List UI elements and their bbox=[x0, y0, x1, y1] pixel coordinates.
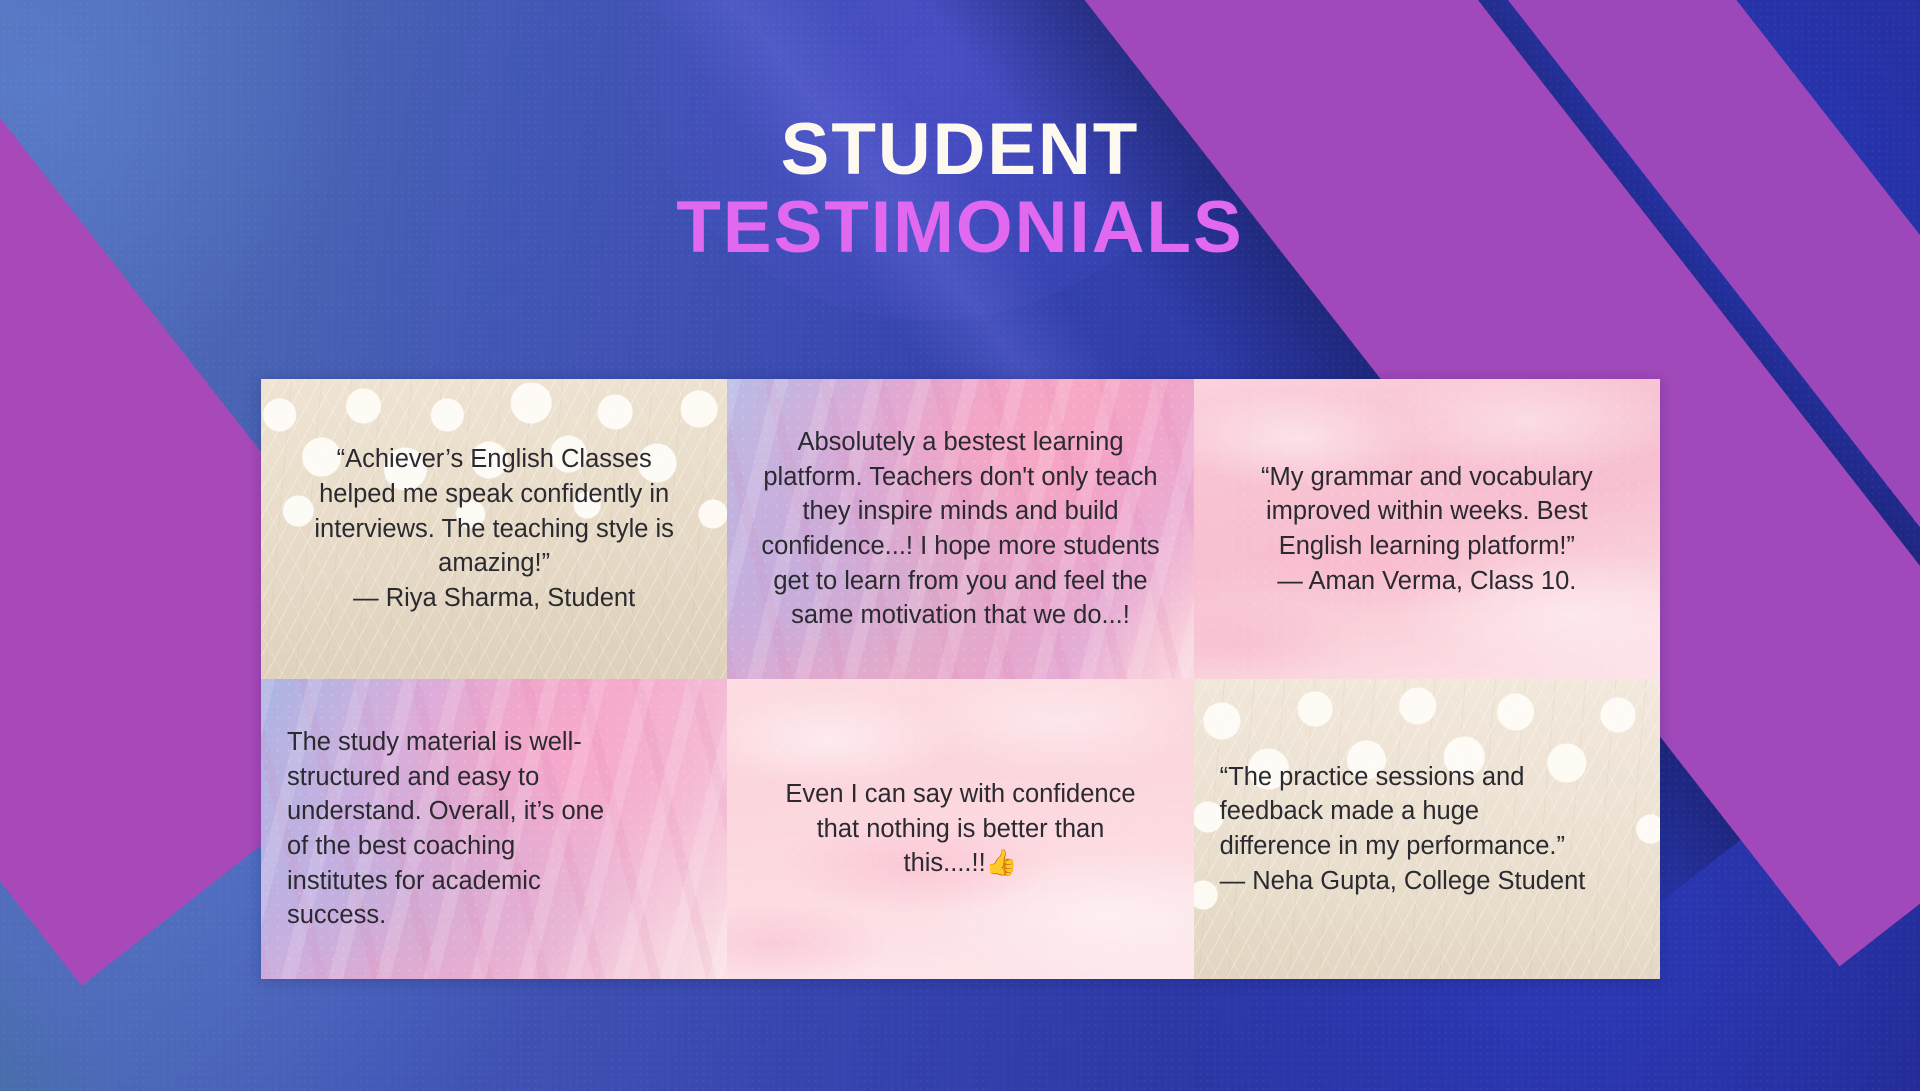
testimonial-text: Absolutely a bestest learning platform. … bbox=[761, 425, 1159, 633]
title-line-testimonials: TESTIMONIALS bbox=[0, 187, 1920, 269]
testimonial-card-study-material[interactable]: The study material is well- structured a… bbox=[261, 679, 727, 979]
testimonial-text: “My grammar and vocabulary improved with… bbox=[1261, 460, 1593, 599]
slide-canvas: STUDENT TESTIMONIALS “Achiever’s English… bbox=[0, 0, 1920, 1091]
page-title: STUDENT TESTIMONIALS bbox=[0, 112, 1920, 269]
testimonial-card-neha-gupta[interactable]: “The practice sessions and feedback made… bbox=[1194, 679, 1660, 979]
testimonial-card-aman-verma[interactable]: “My grammar and vocabulary improved with… bbox=[1194, 379, 1660, 679]
testimonial-text: The study material is well- structured a… bbox=[287, 725, 701, 933]
title-line-student: STUDENT bbox=[0, 112, 1920, 187]
testimonial-text: “The practice sessions and feedback made… bbox=[1220, 760, 1634, 899]
testimonial-text: “Achiever’s English Classes helped me sp… bbox=[314, 442, 674, 615]
testimonial-text: Even I can say with confidence that noth… bbox=[785, 777, 1135, 881]
testimonial-card-riya-sharma[interactable]: “Achiever’s English Classes helped me sp… bbox=[261, 379, 727, 679]
testimonial-card-absolutely-bestest[interactable]: Absolutely a bestest learning platform. … bbox=[727, 379, 1193, 679]
testimonial-card-even-i-can-say[interactable]: Even I can say with confidence that noth… bbox=[727, 679, 1193, 979]
testimonial-grid: “Achiever’s English Classes helped me sp… bbox=[261, 379, 1660, 979]
